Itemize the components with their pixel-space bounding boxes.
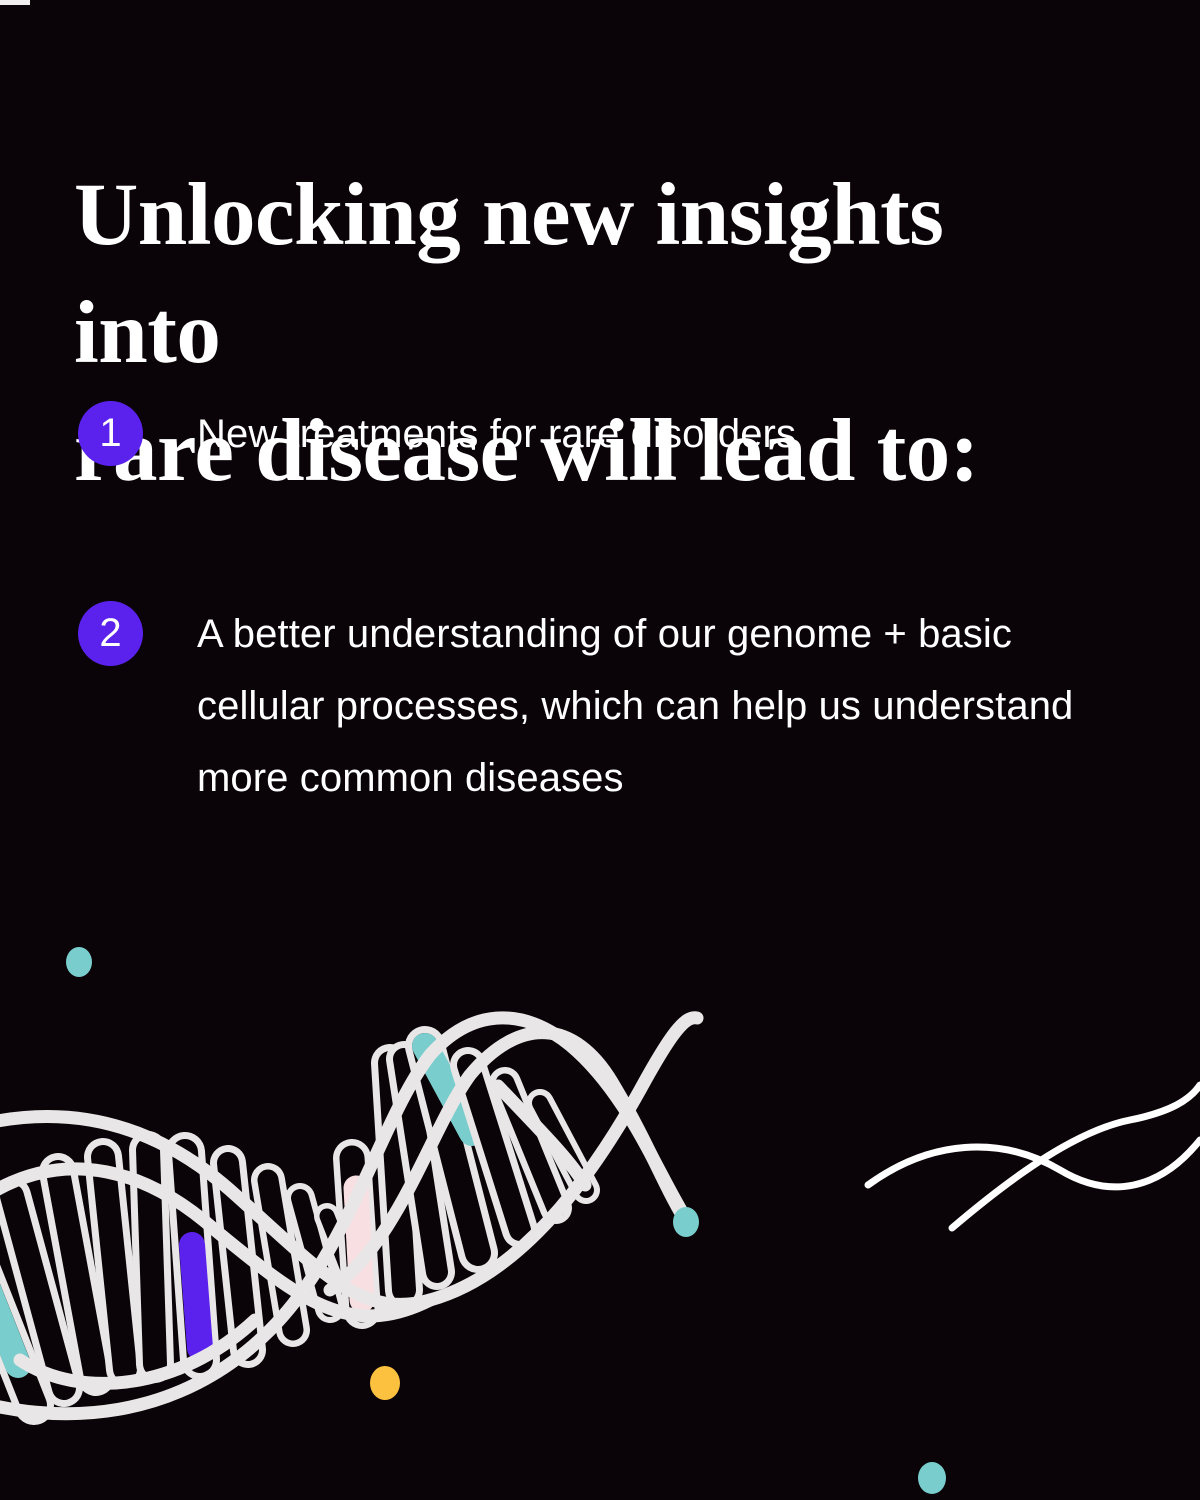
dna-rungs <box>0 1046 586 1405</box>
backbone-strand-e <box>20 1320 255 1383</box>
teal-dot-upper-left <box>66 947 92 977</box>
rung-purple <box>185 1152 200 1360</box>
rung-right-3 <box>468 1065 520 1230</box>
teal-dot-bottom <box>918 1462 946 1494</box>
rung-right-5 <box>540 1103 586 1190</box>
rung-left-1 <box>12 1196 64 1388</box>
rung-left-6 <box>268 1180 293 1330</box>
poster-canvas: Unlocking new insights into rare disease… <box>0 0 1200 1500</box>
decorative-dots <box>66 947 946 1494</box>
outcomes-list: 1 New treatments for rare disorders 2 A … <box>78 398 1118 942</box>
corner-marker <box>0 0 30 5</box>
rung-left-4 <box>148 1150 155 1364</box>
rung-left-2 <box>58 1172 96 1377</box>
list-item-text-1: New treatments for rare disorders <box>197 398 796 470</box>
yellow-dot <box>370 1366 400 1400</box>
rung-left-7 <box>300 1198 330 1308</box>
list-item: 2 A better understanding of our genome +… <box>78 598 1118 814</box>
rung-pink <box>352 1158 362 1310</box>
rung-teal-right <box>425 1046 478 1253</box>
list-item-text-2: A better understanding of our genome + b… <box>197 598 1077 814</box>
rung-left-8 <box>327 1216 356 1290</box>
backbone-strand-c <box>0 1018 690 1414</box>
backbone-strand-a <box>0 1018 697 1305</box>
rung-right-4 <box>505 1083 556 1208</box>
rung-left-3 <box>103 1157 125 1369</box>
dna-backbones <box>0 1018 697 1414</box>
thin-wave-lines <box>868 1085 1200 1228</box>
list-item: 1 New treatments for rare disorders <box>78 398 1118 470</box>
list-number-badge-1: 1 <box>78 401 143 466</box>
backbone-strand-d <box>330 1033 690 1290</box>
rung-left-5 <box>228 1163 248 1350</box>
thin-wave-upper <box>868 1140 1200 1187</box>
rung-right-2 <box>404 1059 437 1272</box>
rung-teal-left <box>0 1243 34 1405</box>
list-number-badge-2: 2 <box>78 601 143 666</box>
backbone-tail-short <box>498 1086 585 1185</box>
backbone-strand-b <box>0 1169 430 1316</box>
rung-right-1 <box>390 1063 404 1290</box>
teal-dot-middle <box>673 1207 699 1237</box>
thin-wave-lower <box>952 1085 1200 1228</box>
